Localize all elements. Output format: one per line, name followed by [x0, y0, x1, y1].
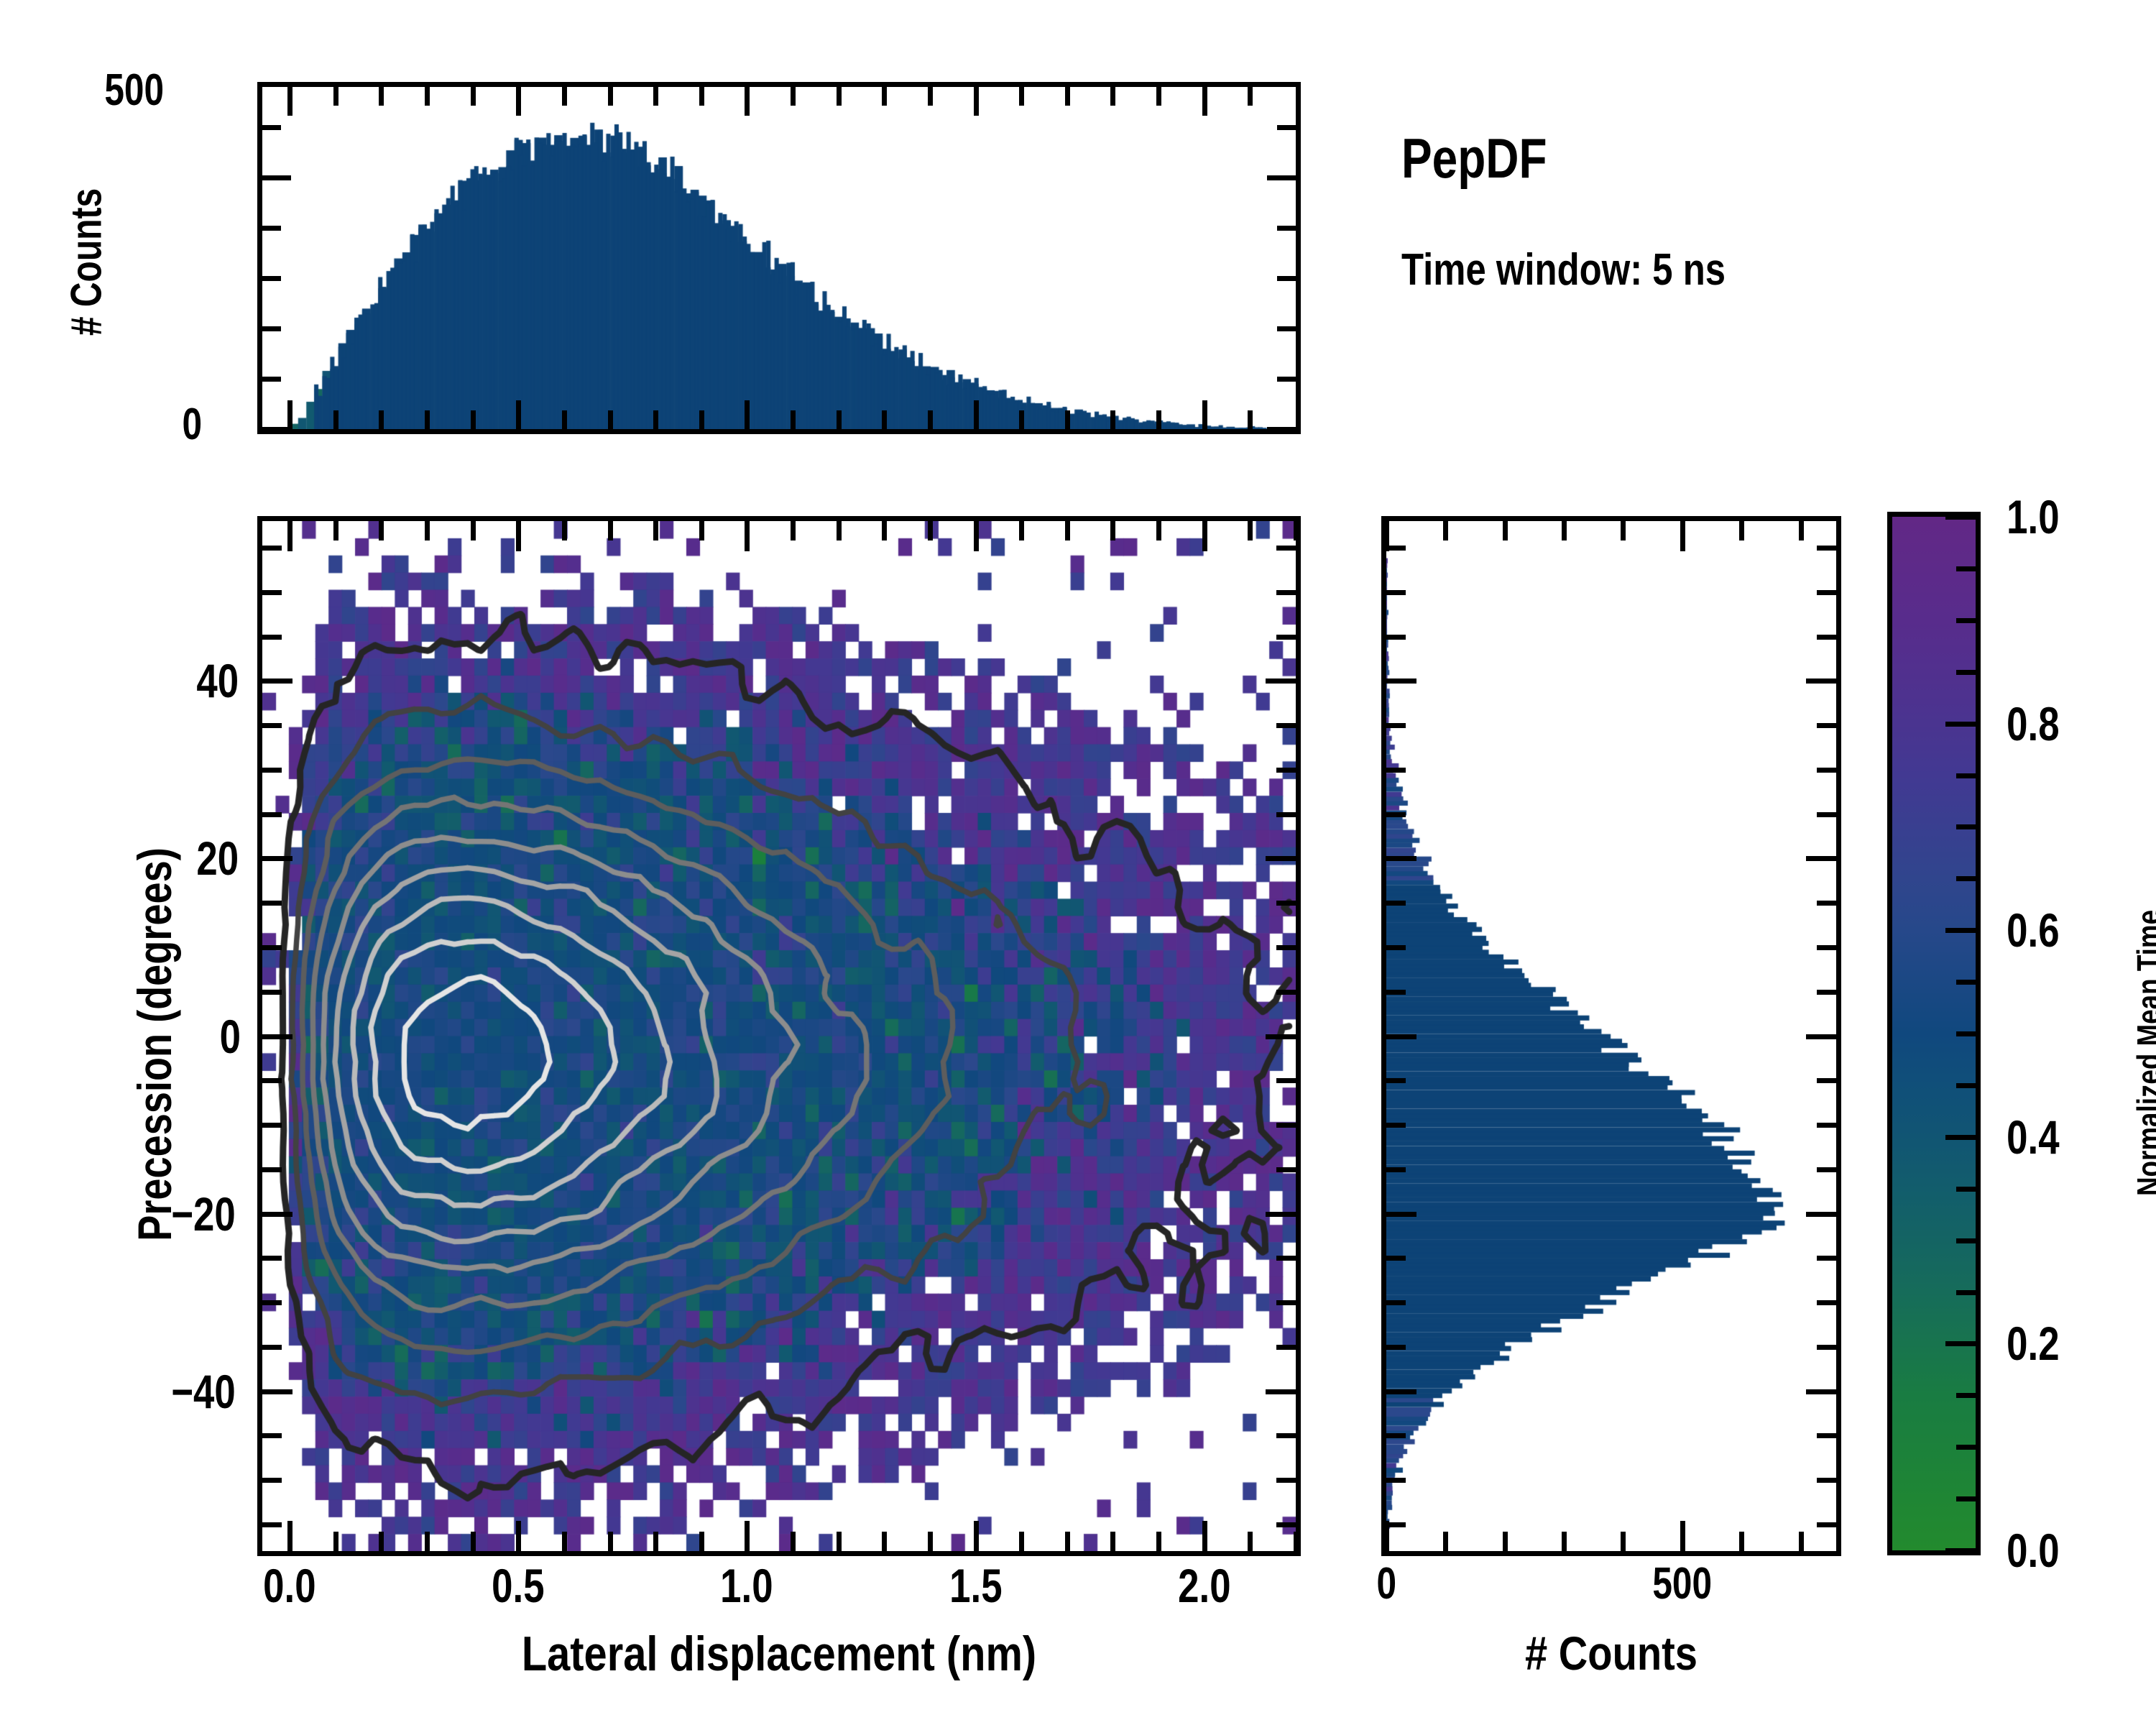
axis-tick [262, 1212, 292, 1217]
axis-tick [882, 87, 887, 106]
colorbar-tick-label: 0.0 [2007, 1523, 2059, 1578]
axis-tick [1806, 856, 1836, 861]
axis-tick [425, 87, 430, 106]
axis-tick [928, 1532, 933, 1551]
axis-tick [1202, 400, 1207, 429]
axis-tick [745, 521, 750, 551]
axis-tick [1276, 1522, 1296, 1527]
axis-tick [1621, 1532, 1626, 1551]
axis-tick [516, 87, 521, 116]
axis-tick [791, 87, 796, 106]
axis-tick [1294, 521, 1299, 540]
axis-tick [262, 1389, 292, 1394]
axis-tick [262, 635, 282, 640]
axis-tick [928, 87, 933, 106]
right-xtick-label: 500 [1653, 1558, 1713, 1609]
axis-tick [1276, 1478, 1296, 1483]
axis-tick [1956, 980, 1976, 985]
joint-xtick-label: 0.0 [263, 1558, 315, 1613]
joint-heatmap-panel [257, 516, 1301, 1556]
axis-tick [1277, 276, 1296, 281]
axis-tick [1276, 990, 1296, 995]
axis-tick [1956, 1031, 1976, 1036]
axis-tick [1945, 1548, 1976, 1553]
axis-tick [287, 521, 292, 551]
axis-tick [287, 400, 292, 429]
axis-tick [1443, 521, 1448, 540]
axis-tick [699, 87, 704, 106]
axis-tick [562, 87, 567, 106]
axis-tick [379, 1532, 384, 1551]
joint-ytick-label: 0 [220, 1009, 241, 1064]
axis-tick [1680, 1521, 1685, 1551]
right-marginal-histogram-panel [1381, 516, 1841, 1556]
colorbar-tick-label: 1.0 [2007, 489, 2059, 544]
axis-tick [1386, 678, 1416, 684]
axis-tick [1956, 670, 1976, 675]
axis-tick [1945, 515, 1976, 520]
axis-tick [1386, 590, 1406, 595]
axis-tick [1110, 87, 1115, 106]
axis-tick [1956, 824, 1976, 829]
right-xtick-label: 0 [1376, 1558, 1396, 1609]
axis-tick [333, 1532, 338, 1551]
axis-tick [1248, 410, 1253, 429]
axis-tick [562, 410, 567, 429]
axis-tick [1945, 928, 1976, 933]
axis-tick [653, 410, 658, 429]
axis-tick [262, 125, 281, 130]
axis-tick [262, 678, 292, 684]
axis-tick [653, 521, 658, 540]
axis-tick [1110, 410, 1115, 429]
axis-tick [1621, 521, 1626, 540]
axis-tick [1277, 326, 1296, 331]
axis-tick [1386, 768, 1406, 773]
axis-tick [333, 410, 338, 429]
axis-tick [262, 1345, 282, 1350]
axis-tick [471, 410, 476, 429]
axis-tick [471, 1532, 476, 1551]
axis-tick [1294, 1532, 1299, 1551]
joint-ytick-label: −20 [171, 1187, 236, 1241]
axis-tick [1956, 1393, 1976, 1398]
axis-tick [1817, 990, 1836, 995]
axis-tick [379, 87, 384, 106]
axis-tick [1386, 635, 1406, 640]
axis-tick [1386, 1256, 1406, 1261]
axis-tick [699, 410, 704, 429]
axis-tick [262, 1522, 282, 1527]
axis-tick [562, 1532, 567, 1551]
axis-tick [1065, 1532, 1070, 1551]
axis-tick [262, 768, 282, 773]
axis-tick [974, 521, 979, 551]
axis-tick [653, 1532, 658, 1551]
axis-tick [1276, 1123, 1296, 1128]
axis-tick [262, 945, 282, 950]
axis-tick [1386, 1123, 1406, 1128]
axis-tick [1386, 1034, 1416, 1039]
axis-tick [262, 427, 291, 432]
axis-tick [1266, 1212, 1296, 1217]
axis-tick [1956, 1290, 1976, 1295]
axis-tick [1386, 546, 1406, 551]
colorbar-tick-label: 0.6 [2007, 903, 2059, 957]
axis-tick [262, 1034, 292, 1039]
axis-tick [1806, 1034, 1836, 1039]
axis-tick [1276, 1300, 1296, 1305]
axis-tick [1680, 521, 1685, 551]
axis-tick [1817, 1478, 1836, 1483]
top-histogram-canvas [262, 87, 1296, 429]
axis-tick [333, 521, 338, 540]
axis-tick [262, 377, 281, 382]
axis-tick [791, 410, 796, 429]
axis-tick [1276, 590, 1296, 595]
axis-tick [516, 1521, 521, 1551]
axis-tick [1817, 1256, 1836, 1261]
joint-xlabel: Lateral displacement (nm) [321, 1626, 1238, 1682]
axis-tick [699, 521, 704, 540]
axis-tick [1110, 521, 1115, 540]
axis-tick [1156, 410, 1161, 429]
axis-tick [1806, 678, 1836, 684]
axis-tick [1503, 521, 1508, 540]
axis-tick [1202, 521, 1207, 551]
axis-tick [1956, 566, 1976, 571]
axis-tick [262, 723, 282, 728]
axis-tick [1817, 1123, 1836, 1128]
axis-tick [1276, 1167, 1296, 1172]
colorbar-tick-label: 0.2 [2007, 1316, 2059, 1371]
axis-tick [1276, 768, 1296, 773]
axis-tick [1266, 1034, 1296, 1039]
axis-tick [1276, 635, 1296, 640]
axis-tick [1276, 901, 1296, 906]
axis-tick [1386, 1078, 1406, 1083]
axis-tick [425, 410, 430, 429]
axis-tick [262, 226, 281, 231]
axis-tick [471, 87, 476, 106]
axis-tick [1806, 1212, 1836, 1217]
axis-tick [1266, 678, 1296, 684]
axis-tick [262, 1078, 282, 1083]
axis-tick [882, 410, 887, 429]
colorbar-tick-label: 0.4 [2007, 1110, 2059, 1164]
axis-tick [1065, 410, 1070, 429]
axis-tick [1945, 722, 1976, 727]
top-ytick-500: 500 [104, 65, 164, 116]
axis-tick [425, 521, 430, 540]
axis-tick [1562, 521, 1567, 540]
axis-tick [262, 546, 282, 551]
axis-tick [287, 1521, 292, 1551]
axis-tick [1386, 1345, 1406, 1350]
axis-tick [837, 1532, 842, 1551]
axis-tick [1956, 1445, 1976, 1450]
axis-tick [1817, 1300, 1836, 1305]
axis-tick [1806, 1389, 1836, 1394]
axis-tick [333, 87, 338, 106]
axis-tick [1386, 1522, 1406, 1527]
axis-tick [262, 901, 282, 906]
axis-tick [1019, 1532, 1024, 1551]
axis-tick [262, 326, 281, 331]
axis-tick [1817, 1433, 1836, 1438]
axis-tick [1817, 945, 1836, 950]
axis-tick [974, 1521, 979, 1551]
axis-tick [608, 521, 613, 540]
axis-tick [1202, 87, 1207, 116]
figure-subtitle: Time window: 5 ns [1401, 244, 1726, 295]
axis-tick [262, 1256, 282, 1261]
axis-tick [1266, 856, 1296, 861]
axis-tick [745, 87, 750, 116]
axis-tick [1156, 1532, 1161, 1551]
axis-tick [1386, 1478, 1406, 1483]
axis-tick [837, 521, 842, 540]
axis-tick [1956, 1496, 1976, 1501]
axis-tick [1110, 1532, 1115, 1551]
joint-ytick-label: 40 [196, 653, 239, 708]
axis-tick [1739, 521, 1744, 540]
axis-tick [1739, 1532, 1744, 1551]
axis-tick [1817, 901, 1836, 906]
axis-tick [837, 410, 842, 429]
axis-tick [1267, 175, 1296, 180]
axis-tick [882, 521, 887, 540]
axis-tick [1817, 590, 1836, 595]
axis-tick [653, 87, 658, 106]
figure-canvas: 0 500 # Counts Precession (degrees) Late… [0, 0, 2156, 1725]
top-ytick-0: 0 [182, 399, 202, 450]
axis-tick [262, 1300, 282, 1305]
axis-tick [974, 87, 979, 116]
axis-tick [379, 521, 384, 540]
axis-tick [1386, 945, 1406, 950]
axis-tick [516, 521, 521, 551]
axis-tick [1386, 1389, 1416, 1394]
axis-tick [1956, 876, 1976, 881]
axis-tick [1267, 427, 1296, 432]
axis-tick [1277, 125, 1296, 130]
axis-tick [1276, 723, 1296, 728]
figure-title: PepDF [1401, 126, 1547, 191]
axis-tick [1817, 768, 1836, 773]
axis-tick [1817, 812, 1836, 817]
axis-tick [516, 400, 521, 429]
axis-tick [1386, 723, 1406, 728]
joint-xtick-label: 1.0 [721, 1558, 773, 1613]
axis-tick [1817, 1078, 1836, 1083]
axis-tick [262, 175, 291, 180]
joint-xtick-label: 2.0 [1178, 1558, 1230, 1613]
axis-tick [262, 590, 282, 595]
axis-tick [1443, 1532, 1448, 1551]
top-marginal-histogram-panel [257, 82, 1301, 434]
axis-tick [1799, 1532, 1804, 1551]
axis-tick [1817, 1522, 1836, 1527]
right-histogram-canvas [1386, 521, 1836, 1551]
axis-tick [1276, 812, 1296, 817]
axis-tick [262, 1478, 282, 1483]
axis-tick [1386, 1433, 1406, 1438]
axis-tick [1019, 87, 1024, 106]
joint-xtick-label: 1.5 [949, 1558, 1002, 1613]
axis-tick [1276, 945, 1296, 950]
axis-tick [262, 990, 282, 995]
axis-tick [1248, 521, 1253, 540]
axis-tick [1562, 1532, 1567, 1551]
axis-tick [471, 521, 476, 540]
axis-tick [608, 410, 613, 429]
axis-tick [1276, 546, 1296, 551]
axis-tick [791, 521, 796, 540]
axis-tick [1817, 635, 1836, 640]
axis-tick [1156, 521, 1161, 540]
axis-tick [1386, 812, 1406, 817]
axis-tick [262, 1433, 282, 1438]
axis-tick [1156, 87, 1161, 106]
axis-tick [1817, 1167, 1836, 1172]
axis-tick [1276, 1345, 1296, 1350]
axis-tick [1956, 1238, 1976, 1243]
axis-tick [1276, 1256, 1296, 1261]
axis-tick [1799, 521, 1804, 540]
axis-tick [1248, 87, 1253, 106]
axis-tick [262, 276, 281, 281]
axis-tick [1276, 1078, 1296, 1083]
top-ylabel: # Counts [62, 147, 111, 377]
axis-tick [974, 400, 979, 429]
axis-tick [262, 1167, 282, 1172]
axis-tick [1019, 410, 1024, 429]
axis-tick [1817, 546, 1836, 551]
axis-tick [287, 87, 292, 116]
axis-tick [745, 400, 750, 429]
axis-tick [1956, 618, 1976, 623]
axis-tick [1386, 1167, 1406, 1172]
axis-tick [1248, 1532, 1253, 1551]
axis-tick [608, 87, 613, 106]
axis-tick [837, 87, 842, 106]
axis-tick [1277, 377, 1296, 382]
axis-tick [608, 1532, 613, 1551]
axis-tick [1386, 990, 1406, 995]
joint-xtick-label: 0.5 [492, 1558, 544, 1613]
axis-tick [262, 812, 282, 817]
axis-tick [928, 410, 933, 429]
axis-tick [1276, 1433, 1296, 1438]
colorbar-label: Normalized Mean Time [2129, 823, 2156, 1283]
axis-tick [1817, 723, 1836, 728]
axis-tick [699, 1532, 704, 1551]
joint-ytick-label: −40 [171, 1364, 236, 1419]
axis-tick [262, 856, 292, 861]
joint-ytick-label: 20 [196, 831, 239, 885]
joint-heatmap-canvas [262, 521, 1296, 1551]
axis-tick [1945, 1341, 1976, 1346]
axis-tick [1956, 1083, 1976, 1088]
axis-tick [262, 1123, 282, 1128]
axis-tick [1266, 1389, 1296, 1394]
axis-tick [1065, 87, 1070, 106]
axis-tick [425, 1532, 430, 1551]
axis-tick [1386, 856, 1416, 861]
right-xlabel: # Counts [1410, 1626, 1813, 1680]
axis-tick [745, 1521, 750, 1551]
axis-tick [1945, 1135, 1976, 1140]
axis-tick [1019, 521, 1024, 540]
axis-tick [1202, 1521, 1207, 1551]
axis-tick [562, 521, 567, 540]
axis-tick [1956, 773, 1976, 778]
axis-tick [791, 1532, 796, 1551]
axis-tick [1817, 1345, 1836, 1350]
axis-tick [1503, 1532, 1508, 1551]
axis-tick [1386, 1212, 1416, 1217]
axis-tick [1956, 1187, 1976, 1192]
axis-tick [928, 521, 933, 540]
axis-tick [1065, 521, 1070, 540]
axis-tick [882, 1532, 887, 1551]
axis-tick [379, 410, 384, 429]
colorbar-tick-label: 0.8 [2007, 696, 2059, 751]
axis-tick [1386, 1300, 1406, 1305]
axis-tick [1386, 901, 1406, 906]
axis-tick [1277, 226, 1296, 231]
